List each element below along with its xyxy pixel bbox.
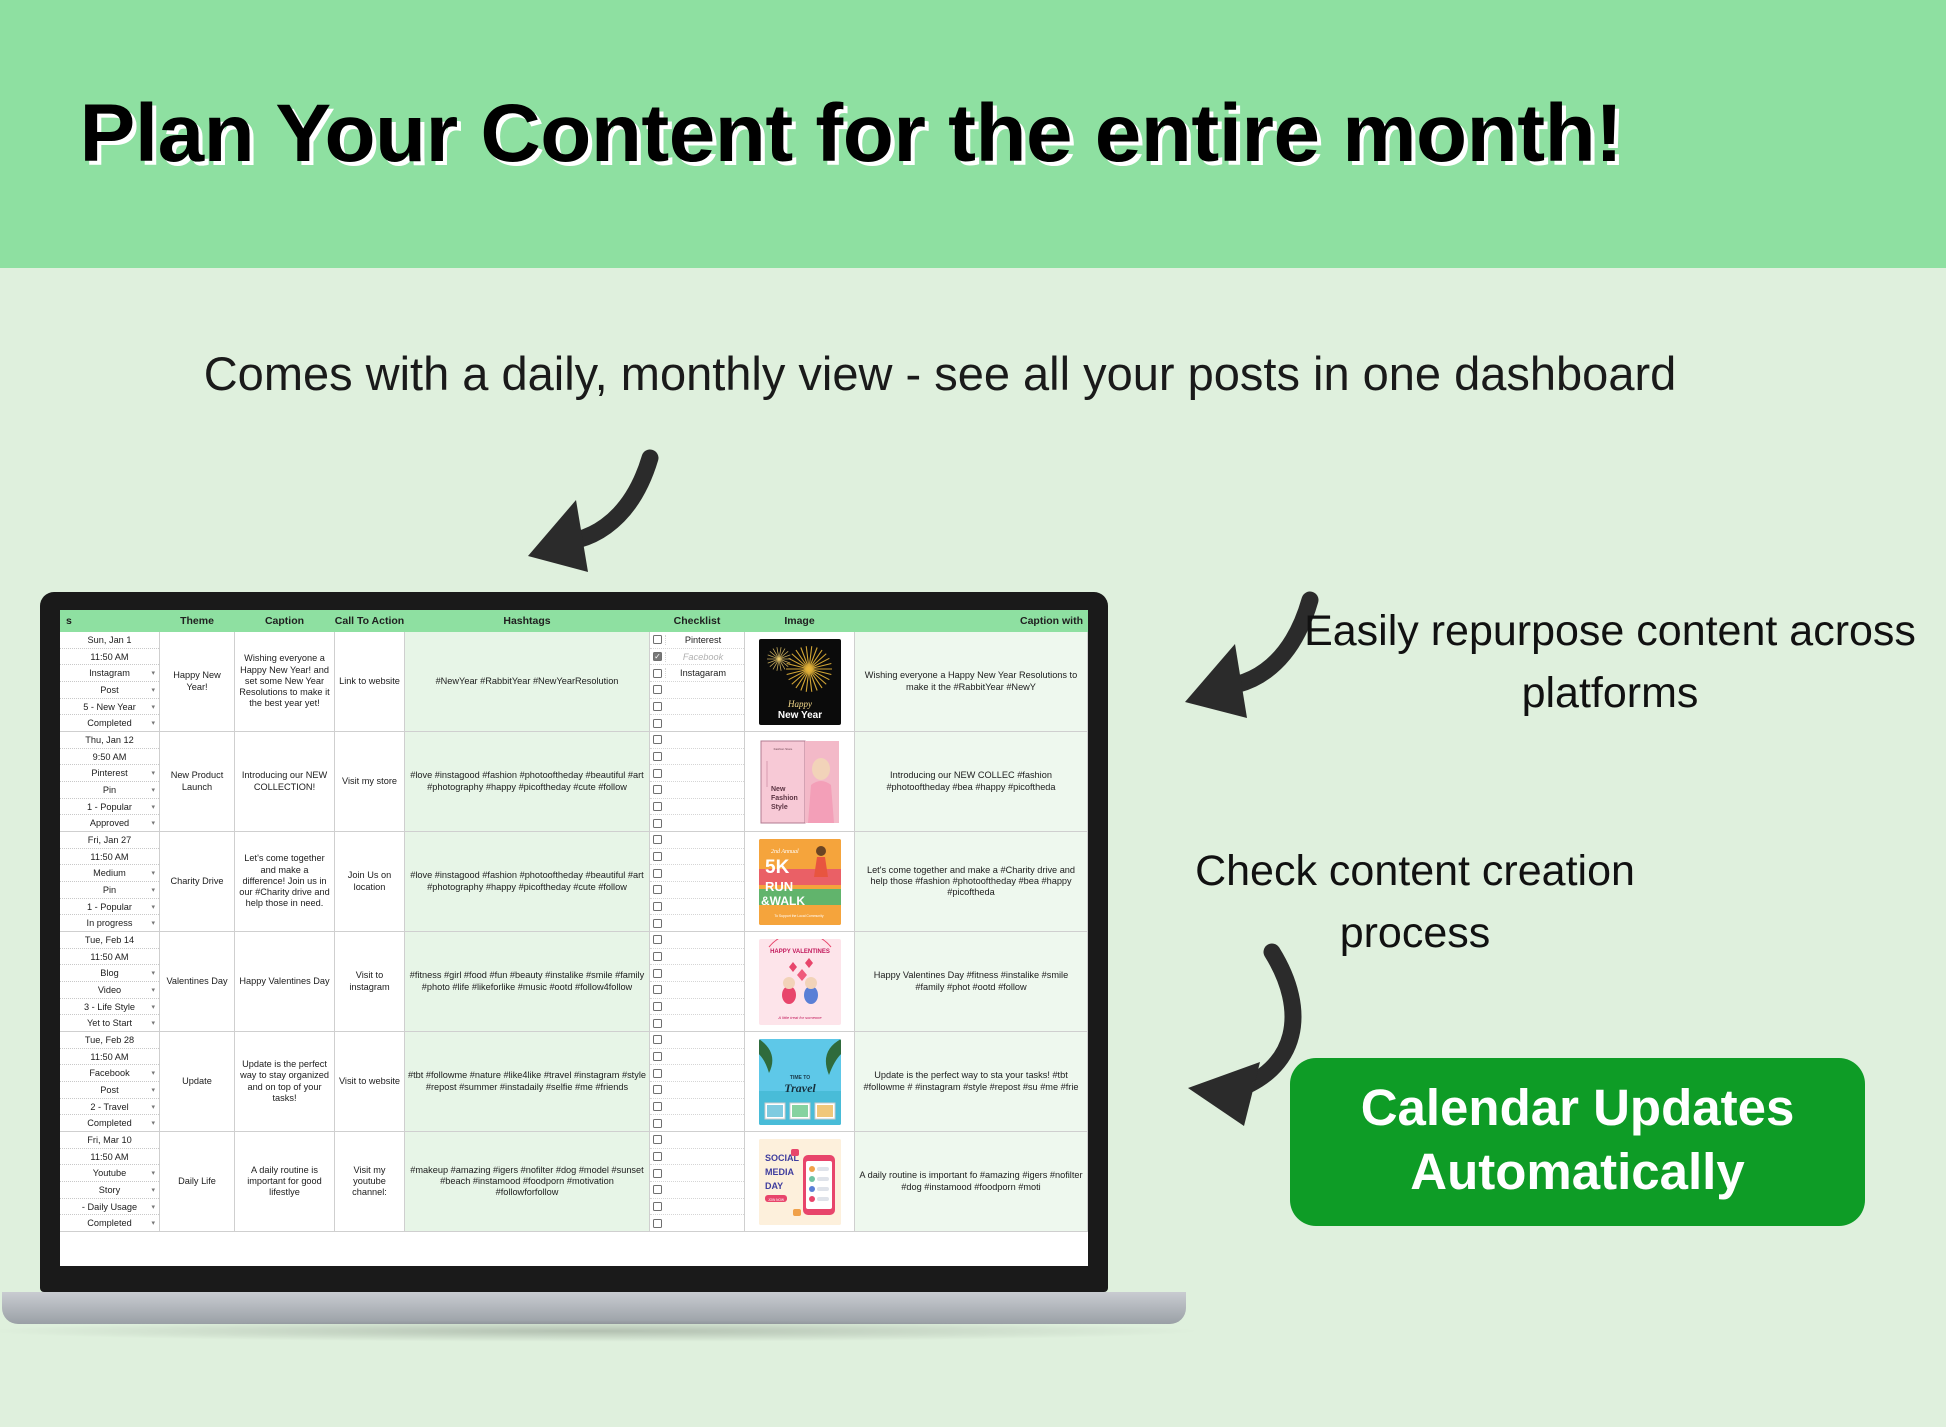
status-dropdown[interactable]: 1 - Popular: [60, 899, 159, 916]
checklist-item[interactable]: [650, 1199, 744, 1216]
cell-image[interactable]: Fashion Store New Fashion Style: [745, 732, 855, 831]
status-text: Tue, Feb 14: [60, 932, 159, 949]
cell-hashtags[interactable]: #love #instagood #fashion #photooftheday…: [405, 732, 650, 831]
checkbox-icon[interactable]: [653, 852, 662, 861]
checklist-item[interactable]: [650, 815, 744, 831]
checklist-item[interactable]: [650, 1149, 744, 1166]
checklist-item[interactable]: [650, 1215, 744, 1231]
checklist-item[interactable]: [650, 1032, 744, 1049]
cell-theme[interactable]: Daily Life: [160, 1132, 235, 1231]
cell-image[interactable]: Happy New Year: [745, 632, 855, 731]
checklist-item[interactable]: [650, 882, 744, 899]
checkbox-icon[interactable]: [653, 1069, 662, 1078]
checklist-item[interactable]: Facebook: [650, 649, 744, 666]
checklist-item[interactable]: [650, 765, 744, 782]
status-dropdown[interactable]: Post: [60, 1082, 159, 1099]
status-cell-group[interactable]: Tue, Feb 1411:50 AMBlogVideo3 - Life Sty…: [60, 932, 160, 1031]
status-text: Tue, Feb 28: [60, 1032, 159, 1049]
checklist-cell-group[interactable]: [650, 932, 745, 1031]
checklist-label: Pinterest: [665, 635, 744, 645]
checklist-item[interactable]: [650, 932, 744, 949]
cell-call-to-action[interactable]: Join Us on location: [335, 832, 405, 931]
svg-text:2nd Annual: 2nd Annual: [771, 849, 799, 855]
status-dropdown[interactable]: Story: [60, 1182, 159, 1199]
column-header-theme[interactable]: Theme: [160, 610, 235, 632]
table-row[interactable]: Thu, Jan 129:50 AMPinterestPin1 - Popula…: [60, 732, 1088, 832]
checkbox-icon[interactable]: [653, 685, 662, 694]
checkbox-icon[interactable]: [653, 1102, 662, 1111]
cell-call-to-action[interactable]: Visit my youtube channel:: [335, 1132, 405, 1231]
checkbox-icon[interactable]: [653, 802, 662, 811]
thumbnail-time-to-travel: TIME TO Travel: [759, 1039, 841, 1125]
checklist-item[interactable]: [650, 1182, 744, 1199]
checkbox-icon[interactable]: [653, 885, 662, 894]
checklist-item[interactable]: [650, 832, 744, 849]
svg-text:Fashion: Fashion: [771, 795, 798, 802]
thumbnail-5k-run-and-walk: 2nd Annual 5K RUN &WALK To Support the L…: [759, 839, 841, 925]
svg-text:Fashion Store: Fashion Store: [773, 747, 792, 751]
status-dropdown[interactable]: - Daily Usage: [60, 1199, 159, 1216]
table-row[interactable]: Tue, Feb 1411:50 AMBlogVideo3 - Life Sty…: [60, 932, 1088, 1032]
checkbox-icon[interactable]: [653, 785, 662, 794]
checklist-item[interactable]: [650, 999, 744, 1016]
status-text: Fri, Mar 10: [60, 1132, 159, 1149]
checkbox-icon[interactable]: [653, 1002, 662, 1011]
status-dropdown[interactable]: Youtube: [60, 1165, 159, 1182]
cell-call-to-action[interactable]: Visit my store: [335, 732, 405, 831]
checkbox-icon[interactable]: [653, 1035, 662, 1044]
status-text: 11:50 AM: [60, 1149, 159, 1166]
badge-line-1: Calendar Updates: [1316, 1076, 1839, 1140]
status-dropdown[interactable]: 3 - Life Style: [60, 999, 159, 1016]
checkbox-icon[interactable]: [653, 919, 662, 928]
cell-theme[interactable]: Update: [160, 1032, 235, 1131]
checklist-item[interactable]: [650, 1065, 744, 1082]
checkbox-icon[interactable]: [653, 735, 662, 744]
checkbox-icon[interactable]: [653, 969, 662, 978]
cell-hashtags[interactable]: #makeup #amazing #igers #nofilter #dog #…: [405, 1132, 650, 1231]
spreadsheet-header-row: s Theme Caption Call To Action Hashtags …: [60, 610, 1088, 632]
laptop-screen: s Theme Caption Call To Action Hashtags …: [60, 610, 1088, 1266]
checklist-item[interactable]: [650, 799, 744, 816]
page-title: Plan Your Content for the entire month!: [0, 87, 1623, 181]
cell-call-to-action[interactable]: Link to website: [335, 632, 405, 731]
checkbox-icon[interactable]: [653, 752, 662, 761]
checkbox-icon[interactable]: [653, 1169, 662, 1178]
checklist-cell-group[interactable]: [650, 832, 745, 931]
checkbox-icon[interactable]: [653, 1152, 662, 1161]
svg-text:Style: Style: [771, 804, 788, 811]
checkbox-icon[interactable]: [653, 835, 662, 844]
checkbox-icon[interactable]: [653, 1135, 662, 1144]
checklist-item[interactable]: [650, 915, 744, 931]
cell-caption[interactable]: Happy Valentines Day: [235, 932, 335, 1031]
cell-caption[interactable]: Introducing our NEW COLLECTION!: [235, 732, 335, 831]
checklist-item[interactable]: [650, 865, 744, 882]
checklist-item[interactable]: [650, 782, 744, 799]
status-cell-group[interactable]: Sun, Jan 111:50 AMInstagramPost5 - New Y…: [60, 632, 160, 731]
checkbox-icon[interactable]: [653, 1119, 662, 1128]
subheadline: Comes with a daily, monthly view - see a…: [120, 340, 1760, 408]
column-header-checklist[interactable]: Checklist: [650, 610, 745, 632]
checkbox-icon[interactable]: [653, 669, 662, 678]
header-banner: Plan Your Content for the entire month!: [0, 0, 1946, 268]
status-dropdown[interactable]: 2 - Travel: [60, 1099, 159, 1116]
laptop-mockup: s Theme Caption Call To Action Hashtags …: [40, 592, 1144, 1292]
status-cell-group[interactable]: Thu, Jan 129:50 AMPinterestPin1 - Popula…: [60, 732, 160, 831]
checklist-item[interactable]: [650, 699, 744, 716]
arrow-down-left-icon: [480, 450, 670, 580]
cell-image[interactable]: 2nd Annual 5K RUN &WALK To Support the L…: [745, 832, 855, 931]
checklist-item[interactable]: [650, 849, 744, 866]
status-dropdown[interactable]: Pin: [60, 882, 159, 899]
status-text: Fri, Jan 27: [60, 832, 159, 849]
status-dropdown[interactable]: Video: [60, 982, 159, 999]
checklist-item[interactable]: [650, 1099, 744, 1116]
thumbnail-happy-valentines-day: HAPPY VALENTINES A little treat for some…: [759, 939, 841, 1025]
checklist-item[interactable]: [650, 1049, 744, 1066]
status-dropdown[interactable]: Completed: [60, 1215, 159, 1231]
status-dropdown[interactable]: Completed: [60, 1115, 159, 1131]
checkbox-icon[interactable]: [653, 1085, 662, 1094]
checklist-cell-group[interactable]: [650, 732, 745, 831]
cell-theme[interactable]: Happy New Year!: [160, 632, 235, 731]
checklist-item[interactable]: [650, 1115, 744, 1131]
column-header-caption[interactable]: Caption: [235, 610, 335, 632]
cell-caption[interactable]: Update is the perfect way to stay organi…: [235, 1032, 335, 1131]
cell-caption-with[interactable]: Wishing everyone a Happy New Year Resolu…: [855, 632, 1088, 731]
status-text: Thu, Jan 12: [60, 732, 159, 749]
cell-caption-with[interactable]: Introducing our NEW COLLEC #fashion #pho…: [855, 732, 1088, 831]
status-dropdown[interactable]: 5 - New Year: [60, 699, 159, 716]
checkbox-icon[interactable]: [653, 902, 662, 911]
checkbox-icon[interactable]: [653, 635, 662, 644]
status-dropdown[interactable]: Pin: [60, 782, 159, 799]
status-cell-group[interactable]: Fri, Mar 1011:50 AMYoutubeStory- Daily U…: [60, 1132, 160, 1231]
status-cell-group[interactable]: Fri, Jan 2711:50 AMMediumPin1 - PopularI…: [60, 832, 160, 931]
cell-hashtags[interactable]: #fitness #girl #food #fun #beauty #insta…: [405, 932, 650, 1031]
calendar-updates-badge: Calendar Updates Automatically: [1290, 1058, 1865, 1226]
status-dropdown[interactable]: Facebook: [60, 1065, 159, 1082]
table-row[interactable]: Sun, Jan 111:50 AMInstagramPost5 - New Y…: [60, 632, 1088, 732]
status-dropdown[interactable]: Medium: [60, 865, 159, 882]
svg-text:JOIN NOW: JOIN NOW: [768, 1198, 784, 1202]
checkbox-icon[interactable]: [653, 769, 662, 778]
status-dropdown[interactable]: Approved: [60, 815, 159, 831]
checklist-item[interactable]: Instagaram: [650, 665, 744, 682]
cell-call-to-action[interactable]: Visit to website: [335, 1032, 405, 1131]
checklist-item[interactable]: [650, 965, 744, 982]
checklist-item[interactable]: [650, 749, 744, 766]
svg-text:HAPPY VALENTINES: HAPPY VALENTINES: [770, 949, 830, 955]
status-text: 11:50 AM: [60, 849, 159, 866]
cell-image[interactable]: HAPPY VALENTINES A little treat for some…: [745, 932, 855, 1031]
checkbox-icon[interactable]: [653, 952, 662, 961]
checklist-item[interactable]: [650, 949, 744, 966]
callout-process: Check content creation process: [1115, 840, 1715, 965]
callout-repurpose: Easily repurpose content across platform…: [1290, 600, 1930, 725]
cell-image[interactable]: TIME TO Travel: [745, 1032, 855, 1131]
svg-text:New Year: New Year: [777, 710, 821, 721]
spreadsheet-rows[interactable]: Sun, Jan 111:50 AMInstagramPost5 - New Y…: [60, 632, 1088, 1266]
checklist-cell-group[interactable]: [650, 1032, 745, 1131]
checkbox-icon[interactable]: [653, 819, 662, 828]
cell-caption-with[interactable]: Happy Valentines Day #fitness #instalike…: [855, 932, 1088, 1031]
cell-hashtags[interactable]: #NewYear #RabbitYear #NewYearResolution: [405, 632, 650, 731]
laptop-bezel: s Theme Caption Call To Action Hashtags …: [40, 592, 1108, 1292]
cell-hashtags[interactable]: #love #instagood #fashion #photooftheday…: [405, 832, 650, 931]
status-dropdown[interactable]: In progress: [60, 915, 159, 931]
status-text: 11:50 AM: [60, 649, 159, 666]
checklist-label: Facebook: [665, 652, 744, 662]
status-dropdown[interactable]: Instagram: [60, 665, 159, 682]
checklist-item[interactable]: [650, 899, 744, 916]
checklist-label: Instagaram: [665, 668, 744, 678]
checkbox-icon[interactable]: [653, 1202, 662, 1211]
checkbox-checked-icon[interactable]: [653, 652, 662, 661]
table-row[interactable]: Tue, Feb 2811:50 AMFacebookPost2 - Trave…: [60, 1032, 1088, 1132]
status-dropdown[interactable]: Completed: [60, 715, 159, 731]
checklist-item[interactable]: [650, 1132, 744, 1149]
svg-text:A little treat for someone: A little treat for someone: [777, 1015, 822, 1020]
checkbox-icon[interactable]: [653, 1185, 662, 1194]
checklist-cell-group[interactable]: PinterestFacebookInstagaram: [650, 632, 745, 731]
cell-caption-with[interactable]: A daily routine is important fo #amazing…: [855, 1132, 1088, 1231]
checklist-item[interactable]: [650, 1082, 744, 1099]
spreadsheet[interactable]: s Theme Caption Call To Action Hashtags …: [60, 610, 1088, 1266]
svg-text:Happy: Happy: [787, 699, 812, 709]
svg-text:Travel: Travel: [784, 1081, 816, 1095]
laptop-shadow: [0, 1320, 1208, 1342]
checklist-item[interactable]: [650, 1165, 744, 1182]
column-header-status[interactable]: s: [60, 610, 160, 632]
status-cell-group[interactable]: Tue, Feb 2811:50 AMFacebookPost2 - Trave…: [60, 1032, 160, 1131]
cell-caption-with[interactable]: Update is the perfect way to sta your ta…: [855, 1032, 1088, 1131]
status-dropdown[interactable]: 1 - Popular: [60, 799, 159, 816]
cell-caption-with[interactable]: Let's come together and make a #Charity …: [855, 832, 1088, 931]
cell-theme[interactable]: Valentines Day: [160, 932, 235, 1031]
status-dropdown[interactable]: Yet to Start: [60, 1015, 159, 1031]
cell-caption[interactable]: A daily routine is important for good li…: [235, 1132, 335, 1231]
checklist-item[interactable]: Pinterest: [650, 632, 744, 649]
table-row[interactable]: Fri, Mar 1011:50 AMYoutubeStory- Daily U…: [60, 1132, 1088, 1232]
svg-text:To Support the Local Community: To Support the Local Community: [774, 914, 823, 918]
svg-text:5K: 5K: [765, 857, 790, 878]
status-dropdown[interactable]: Post: [60, 682, 159, 699]
checkbox-icon[interactable]: [653, 935, 662, 944]
svg-text:MEDIA: MEDIA: [765, 1167, 795, 1177]
svg-text:DAY: DAY: [765, 1181, 783, 1191]
badge-line-2: Automatically: [1316, 1140, 1839, 1204]
checkbox-icon[interactable]: [653, 985, 662, 994]
svg-text:RUN: RUN: [765, 879, 793, 894]
svg-text:&WALK: &WALK: [761, 894, 805, 908]
cell-caption[interactable]: Let's come together and make a differenc…: [235, 832, 335, 931]
checkbox-icon[interactable]: [653, 1052, 662, 1061]
status-text: 11:50 AM: [60, 949, 159, 966]
checkbox-icon[interactable]: [653, 719, 662, 728]
cell-caption[interactable]: Wishing everyone a Happy New Year! and s…: [235, 632, 335, 731]
checkbox-icon[interactable]: [653, 869, 662, 878]
checklist-item[interactable]: [650, 732, 744, 749]
status-dropdown[interactable]: Blog: [60, 965, 159, 982]
checklist-cell-group[interactable]: [650, 1132, 745, 1231]
checkbox-icon[interactable]: [653, 702, 662, 711]
status-dropdown[interactable]: Pinterest: [60, 765, 159, 782]
cell-hashtags[interactable]: #tbt #followme #nature #like4like #trave…: [405, 1032, 650, 1131]
table-row[interactable]: Fri, Jan 2711:50 AMMediumPin1 - PopularI…: [60, 832, 1088, 932]
checklist-item[interactable]: [650, 715, 744, 731]
status-text: 9:50 AM: [60, 749, 159, 766]
checklist-item[interactable]: [650, 1015, 744, 1031]
checkbox-icon[interactable]: [653, 1019, 662, 1028]
column-header-image[interactable]: Image: [745, 610, 855, 632]
cell-call-to-action[interactable]: Visit to instagram: [335, 932, 405, 1031]
svg-text:New: New: [771, 786, 786, 793]
column-header-cta[interactable]: Call To Action: [335, 610, 405, 632]
thumbnail-fireworks-happy-new-year: Happy New Year: [759, 639, 841, 725]
column-header-hashtags[interactable]: Hashtags: [405, 610, 650, 632]
checklist-item[interactable]: [650, 982, 744, 999]
checklist-item[interactable]: [650, 682, 744, 699]
cell-image[interactable]: SOCIAL MEDIA DAY JOIN NOW: [745, 1132, 855, 1231]
status-text: 11:50 AM: [60, 1049, 159, 1066]
checkbox-icon[interactable]: [653, 1219, 662, 1228]
thumbnail-new-fashion-style: Fashion Store New Fashion Style: [759, 739, 841, 825]
cell-theme[interactable]: New Product Launch: [160, 732, 235, 831]
status-text: Sun, Jan 1: [60, 632, 159, 649]
thumbnail-social-media-day: SOCIAL MEDIA DAY JOIN NOW: [759, 1139, 841, 1225]
column-header-caption-with[interactable]: Caption with: [855, 610, 1088, 632]
cell-theme[interactable]: Charity Drive: [160, 832, 235, 931]
